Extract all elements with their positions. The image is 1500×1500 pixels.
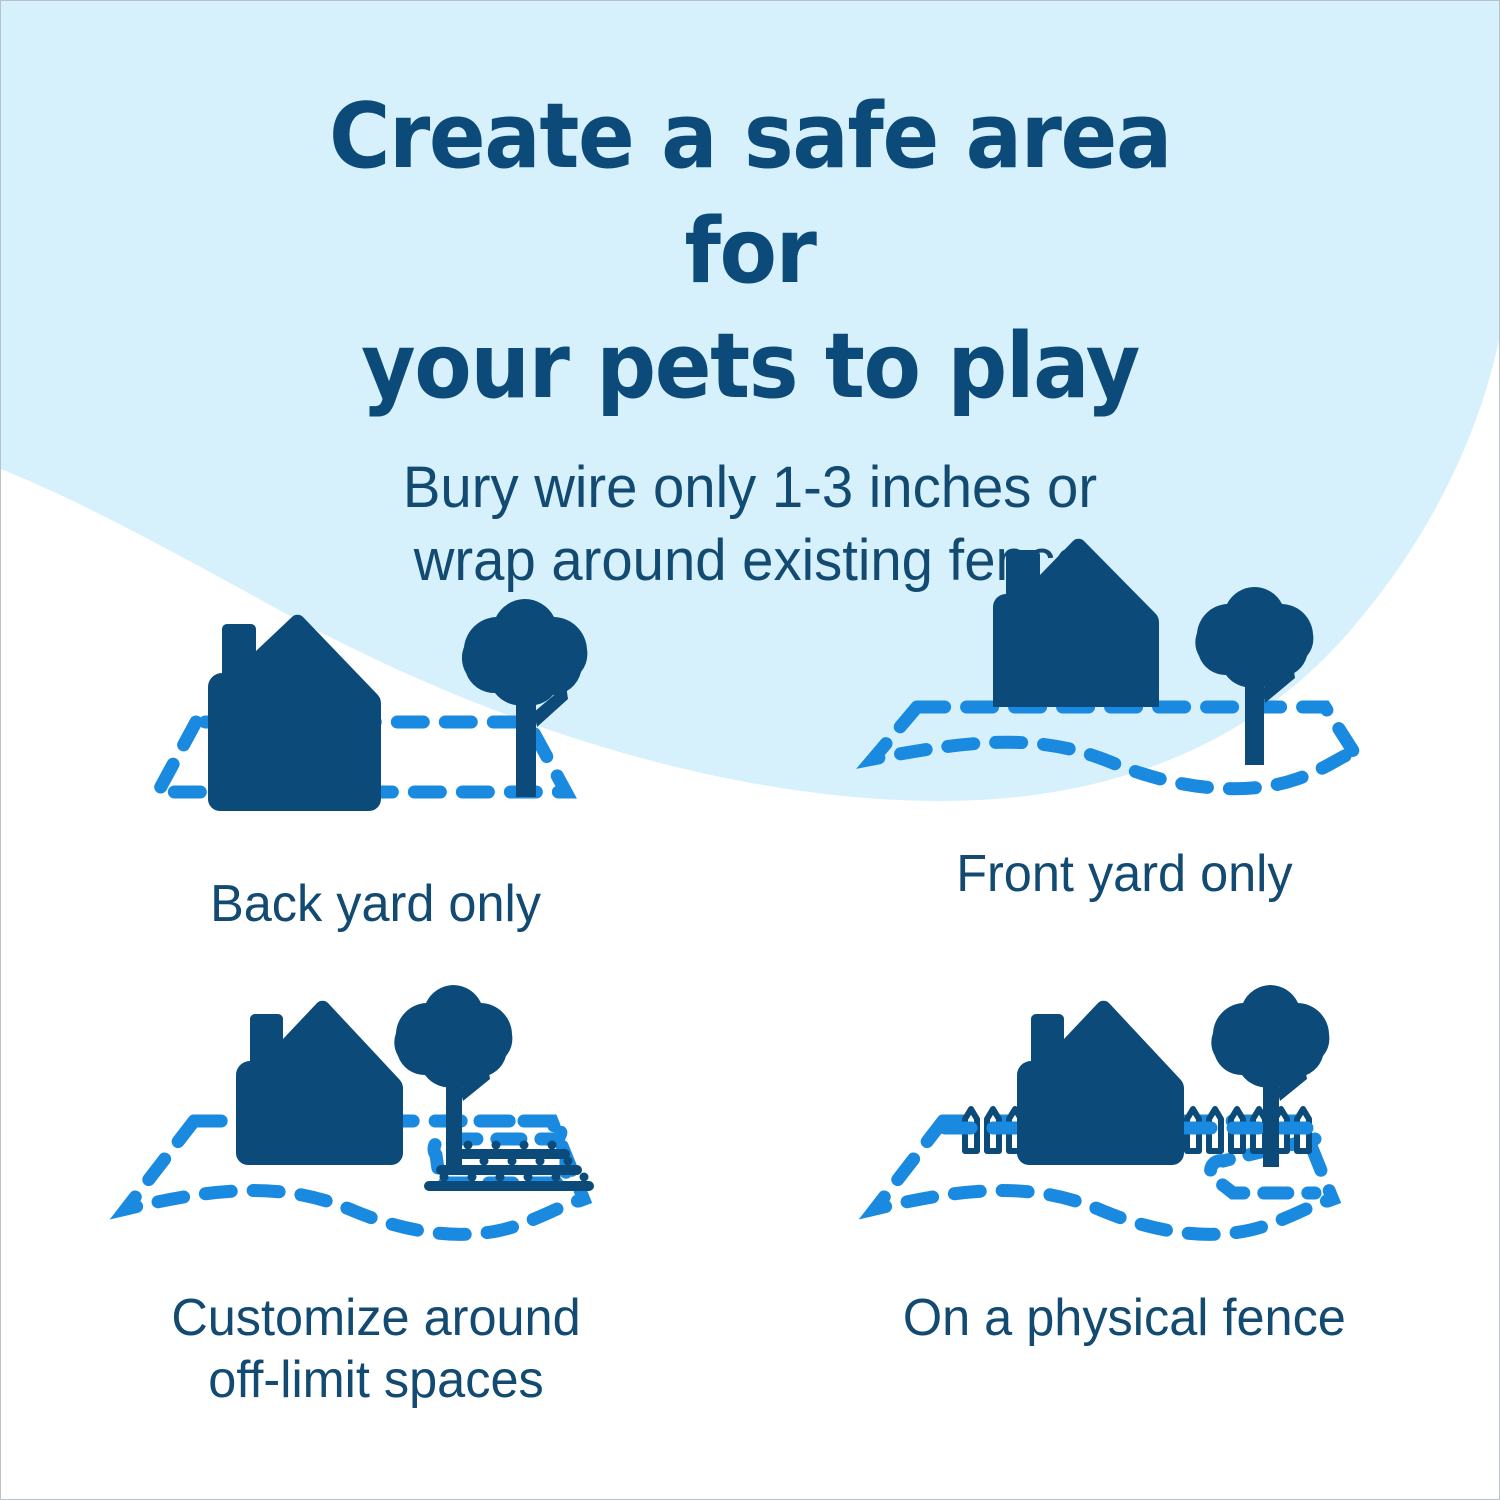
option-card-label: On a physical fence: [903, 1287, 1346, 1349]
label-line-1: On a physical fence: [903, 1287, 1346, 1349]
header: Create a safe area for your pets to play…: [1, 1, 1499, 598]
option-card-physical-fence: On a physical fence: [750, 961, 1499, 1421]
house-icon: [1017, 1001, 1184, 1165]
option-card-label: Customize around off-limit spaces: [171, 1287, 580, 1412]
house-icon: [208, 615, 381, 811]
label-line-2: off-limit spaces: [171, 1349, 580, 1411]
subtitle-line-1: Bury wire only 1-3 inches or: [284, 451, 1215, 525]
option-card-back-yard: Back yard only: [1, 521, 750, 961]
customize-off-limits-diagram: [96, 971, 656, 1271]
back-yard-diagram: [96, 547, 656, 847]
label-line-1: Customize around: [171, 1287, 580, 1349]
house-icon: [236, 1001, 403, 1165]
front-yard-diagram: [845, 527, 1405, 827]
title-line-1: Create a safe area for: [280, 79, 1219, 309]
option-card-label: Front yard only: [956, 843, 1292, 905]
title-line-2: your pets to play: [280, 309, 1219, 424]
option-card-customize: Customize around off-limit spaces: [1, 961, 750, 1421]
label-line-1: Back yard only: [210, 873, 541, 935]
tree-icon: [1195, 587, 1313, 765]
tree-icon: [461, 599, 586, 797]
label-line-1: Front yard only: [956, 843, 1292, 905]
containment-options-grid: Back yard only: [1, 521, 1499, 1421]
option-card-front-yard: Front yard only: [750, 521, 1499, 961]
physical-fence-diagram: [845, 971, 1405, 1271]
option-card-label: Back yard only: [210, 873, 541, 935]
dashed-boundary-wire: [873, 707, 1357, 789]
house-icon: [993, 539, 1159, 707]
infographic-poster: Create a safe area for your pets to play…: [0, 0, 1500, 1500]
page-title: Create a safe area for your pets to play: [280, 79, 1219, 425]
